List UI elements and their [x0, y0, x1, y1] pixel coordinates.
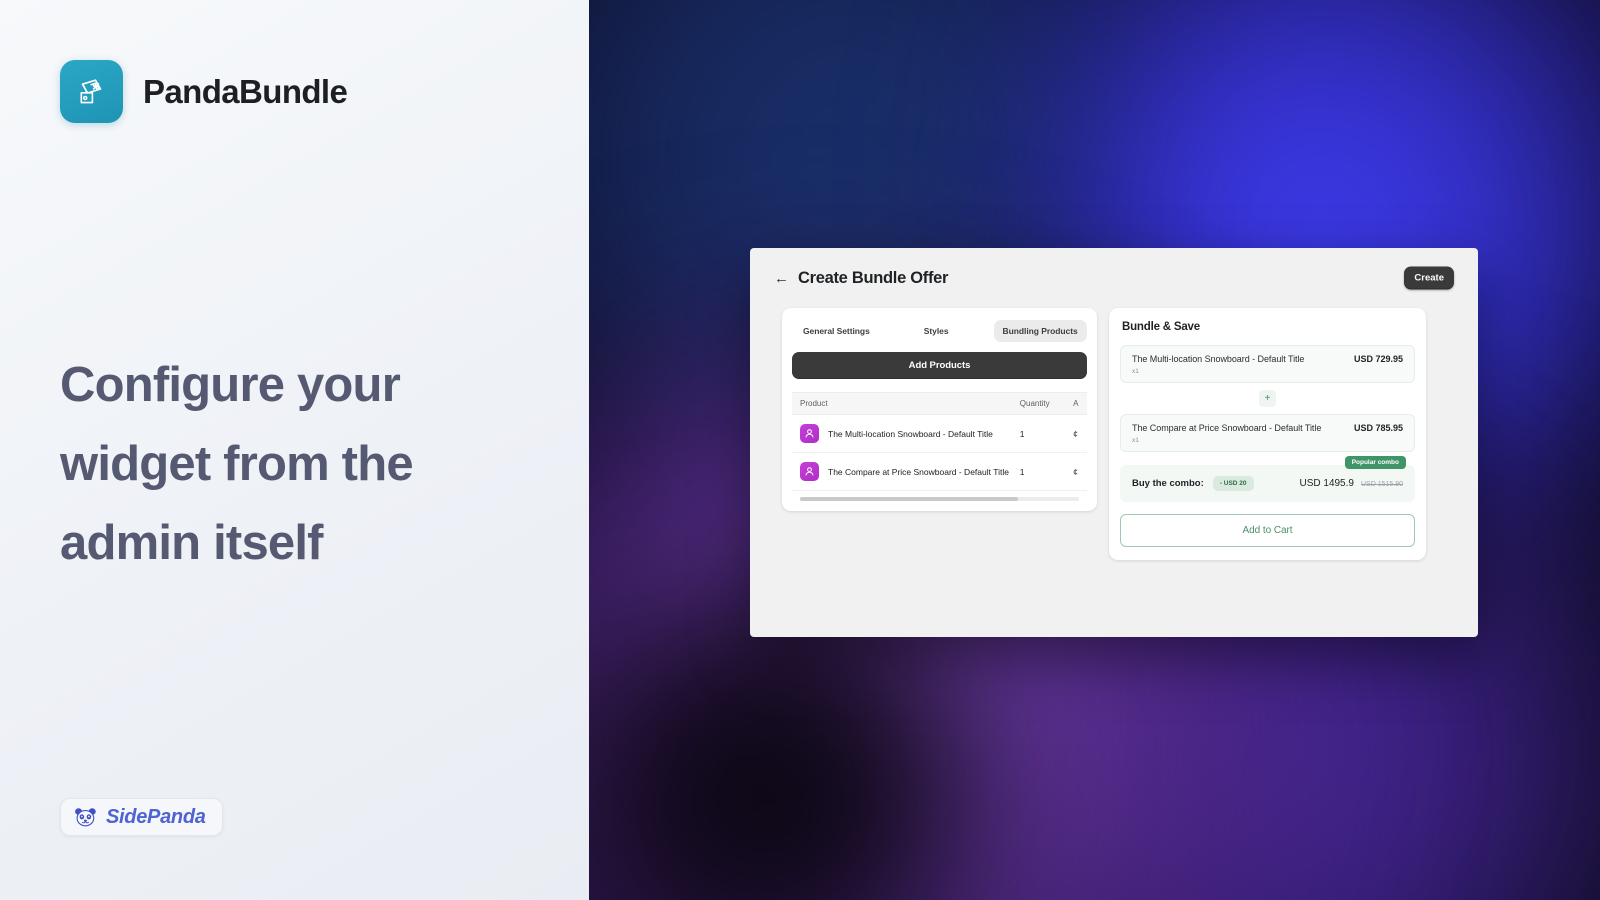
admin-app-window: ← Create Bundle Offer Create General Set… — [750, 248, 1478, 637]
page-title: Create Bundle Offer — [798, 269, 948, 288]
create-button[interactable]: Create — [1404, 267, 1454, 290]
column-header-action: A — [1069, 393, 1087, 415]
combo-old-price: USD 1515.90 — [1361, 481, 1403, 488]
scrollbar-thumb[interactable] — [800, 497, 1018, 501]
bundle-item-name: The Multi-location Snowboard - Default T… — [1132, 354, 1304, 364]
combo-price: USD 1495.9 — [1299, 478, 1353, 489]
combo-label: Buy the combo: — [1132, 478, 1204, 489]
pandabundle-logo-icon — [60, 60, 123, 123]
column-header-quantity: Quantity — [1016, 393, 1069, 415]
left-content-pane: PandaBundle Configure your widget from t… — [0, 0, 589, 900]
horizontal-scrollbar[interactable] — [800, 497, 1079, 501]
bundle-item: The Compare at Price Snowboard - Default… — [1120, 414, 1415, 452]
product-avatar-icon — [800, 462, 819, 481]
table-header-row: Product Quantity A — [792, 393, 1087, 415]
tab-general-settings[interactable]: General Settings — [794, 320, 879, 342]
bundle-item: The Multi-location Snowboard - Default T… — [1120, 345, 1415, 383]
tab-styles[interactable]: Styles — [915, 320, 958, 342]
page-headline: Configure your widget from the admin its… — [60, 346, 530, 583]
popular-combo-badge: Popular combo — [1345, 456, 1406, 469]
preview-title: Bundle & Save — [1120, 321, 1415, 333]
bundle-items: The Multi-location Snowboard - Default T… — [1120, 345, 1415, 452]
bundle-item-qty: x1 — [1132, 368, 1403, 375]
add-to-cart-button[interactable]: Add to Cart — [1120, 514, 1415, 547]
arrow-left-icon[interactable]: ← — [774, 271, 789, 286]
cell-quantity: 1 — [1016, 415, 1069, 453]
bundle-item-name: The Compare at Price Snowboard - Default… — [1132, 423, 1321, 433]
product-avatar-icon — [800, 424, 819, 443]
combo-row: Buy the combo: - USD 20 USD 1495.9 USD 1… — [1120, 465, 1415, 502]
table-row[interactable]: The Compare at Price Snowboard - Default… — [792, 453, 1087, 491]
settings-card: General Settings Styles Bundling Product… — [782, 308, 1097, 511]
cell-product: The Multi-location Snowboard - Default T… — [792, 415, 1016, 453]
products-table: Product Quantity A — [792, 392, 1087, 491]
brand-lockup: PandaBundle — [60, 60, 347, 123]
app-body: General Settings Styles Bundling Product… — [750, 308, 1478, 584]
settings-tabs: General Settings Styles Bundling Product… — [792, 320, 1087, 352]
gradient-backdrop-pane: ← Create Bundle Offer Create General Set… — [589, 0, 1600, 900]
brand-name: PandaBundle — [143, 73, 347, 111]
plus-icon: + — [1259, 390, 1276, 407]
sidepanda-label: SidePanda — [106, 806, 206, 829]
bundle-preview-card: Bundle & Save The Multi-location Snowboa… — [1109, 308, 1426, 560]
bundle-item-qty: x1 — [1132, 437, 1403, 444]
sidepanda-badge[interactable]: SidePanda — [60, 798, 223, 836]
bundle-item-price: USD 785.95 — [1354, 423, 1403, 433]
action-truncated: ¢ — [1073, 467, 1083, 477]
tab-bundling-products[interactable]: Bundling Products — [994, 320, 1087, 342]
discount-chip: - USD 20 — [1213, 476, 1254, 491]
combo-section: Popular combo Buy the combo: - USD 20 US… — [1120, 465, 1415, 502]
cell-action[interactable]: ¢ — [1069, 415, 1087, 453]
add-products-button[interactable]: Add Products — [792, 352, 1087, 379]
cell-product: The Compare at Price Snowboard - Default… — [792, 453, 1016, 491]
table-row[interactable]: The Multi-location Snowboard - Default T… — [792, 415, 1087, 453]
cell-action[interactable]: ¢ — [1069, 453, 1087, 491]
cell-quantity: 1 — [1016, 453, 1069, 491]
app-topbar: ← Create Bundle Offer Create — [750, 248, 1478, 308]
bundle-item-price: USD 729.95 — [1354, 354, 1403, 364]
products-table-wrapper: Product Quantity A — [792, 392, 1087, 501]
action-truncated: ¢ — [1073, 429, 1083, 439]
product-name: The Multi-location Snowboard - Default T… — [828, 429, 993, 439]
plus-separator: + — [1120, 383, 1415, 414]
promo-slide: PandaBundle Configure your widget from t… — [0, 0, 1600, 900]
panda-face-icon — [74, 807, 97, 827]
column-header-product: Product — [792, 393, 1016, 415]
product-name: The Compare at Price Snowboard - Default… — [828, 467, 1009, 477]
